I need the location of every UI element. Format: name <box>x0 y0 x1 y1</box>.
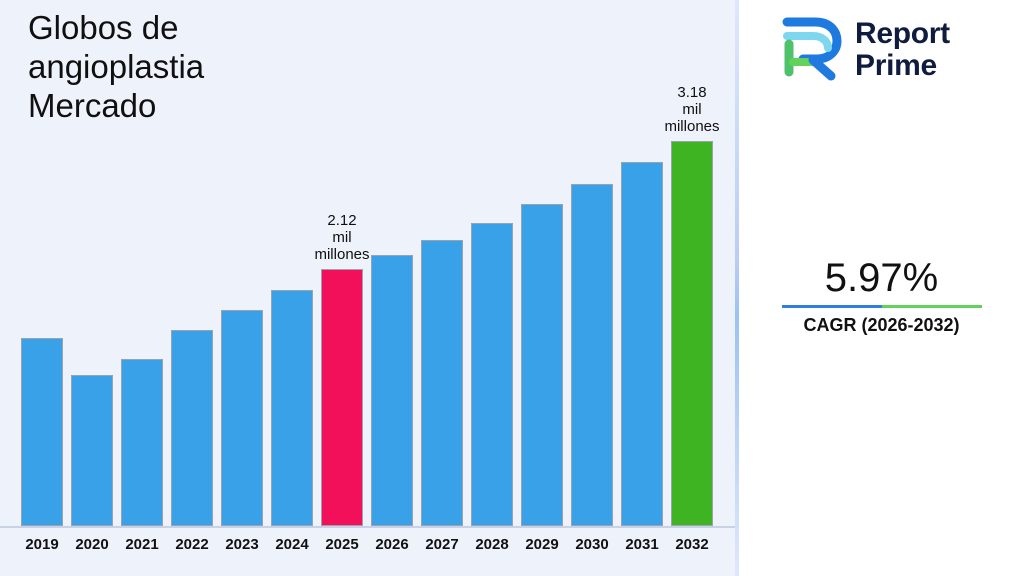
x-axis-line <box>0 526 735 528</box>
report-prime-logo-icon <box>779 16 845 82</box>
bar-2025: 2.12 mil millones <box>318 120 366 526</box>
brand-name: Report Prime <box>855 18 950 82</box>
x-tick-2031: 2031 <box>618 536 666 553</box>
cagr-value: 5.97% <box>739 255 1024 301</box>
x-tick-2026: 2026 <box>368 536 416 553</box>
x-axis-tick-labels: 2019202020212022202320242025202620272028… <box>8 530 728 560</box>
bar-2021 <box>118 120 166 526</box>
bar-rect-2030 <box>571 184 613 526</box>
x-tick-2025: 2025 <box>318 536 366 553</box>
bar-rect-2026 <box>371 255 413 526</box>
cagr-caption: CAGR (2026-2032) <box>739 314 1024 336</box>
x-tick-2032: 2032 <box>668 536 716 553</box>
bar-2019 <box>18 120 66 526</box>
x-tick-2024: 2024 <box>268 536 316 553</box>
bar-rect-2027 <box>421 240 463 526</box>
bar-2030 <box>568 120 616 526</box>
bar-2028 <box>468 120 516 526</box>
x-tick-2020: 2020 <box>68 536 116 553</box>
bar-rect-2032 <box>671 141 713 526</box>
bar-2022 <box>168 120 216 526</box>
bar-value-label-2032: 3.18 mil millones <box>647 84 737 135</box>
bar-2026 <box>368 120 416 526</box>
chart-panel: Globos de angioplastia Mercado 2.12 mil … <box>0 0 735 576</box>
bar-rect-2025 <box>321 269 363 526</box>
x-tick-2022: 2022 <box>168 536 216 553</box>
bar-rect-2021 <box>121 359 163 526</box>
bar-rect-2023 <box>221 310 263 526</box>
x-tick-2029: 2029 <box>518 536 566 553</box>
page-title: Globos de angioplastia Mercado <box>28 8 408 125</box>
bar-2032: 3.18 mil millones <box>668 120 716 526</box>
x-tick-2019: 2019 <box>18 536 66 553</box>
x-tick-2021: 2021 <box>118 536 166 553</box>
bar-chart-plot-area: 2.12 mil millones3.18 mil millones <box>8 120 728 526</box>
bar-rect-2028 <box>471 223 513 526</box>
bar-rect-2019 <box>21 338 63 526</box>
bar-2031 <box>618 120 666 526</box>
bar-rect-2020 <box>71 375 113 526</box>
x-tick-2027: 2027 <box>418 536 466 553</box>
bar-2029 <box>518 120 566 526</box>
bar-rect-2031 <box>621 162 663 526</box>
bar-2023 <box>218 120 266 526</box>
x-tick-2028: 2028 <box>468 536 516 553</box>
cagr-block: 5.97% CAGR (2026-2032) <box>739 255 1024 336</box>
cagr-underline <box>782 305 982 308</box>
bar-rect-2029 <box>521 204 563 526</box>
infographic-root: Globos de angioplastia Mercado 2.12 mil … <box>0 0 1024 576</box>
x-tick-2030: 2030 <box>568 536 616 553</box>
bar-2027 <box>418 120 466 526</box>
x-tick-2023: 2023 <box>218 536 266 553</box>
bar-rect-2024 <box>271 290 313 526</box>
brand-lockup: Report Prime <box>779 14 999 90</box>
brand-panel: Report Prime 5.97% CAGR (2026-2032) <box>739 0 1024 576</box>
bar-2020 <box>68 120 116 526</box>
bar-rect-2022 <box>171 330 213 526</box>
bar-2024 <box>268 120 316 526</box>
